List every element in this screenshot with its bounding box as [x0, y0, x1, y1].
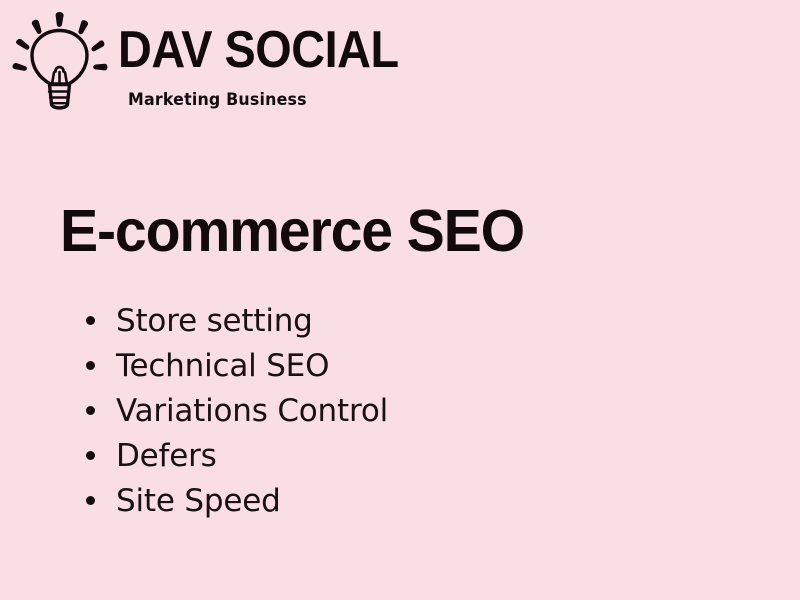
list-item-label: Variations Control: [116, 394, 388, 428]
list-item-label: Store setting: [116, 304, 313, 338]
list-item: Site Speed: [82, 478, 702, 523]
list-item: Defers: [82, 433, 702, 478]
lightbulb-icon: [12, 10, 120, 114]
list-item: Variations Control: [82, 388, 702, 433]
presentation-slide: DAV SOCIAL Marketing Business E-commerce…: [0, 0, 800, 600]
feature-list: Store setting Technical SEO Variations C…: [82, 298, 702, 523]
list-item: Store setting: [82, 298, 702, 343]
brand-wordmark: DAV SOCIAL Marketing Business: [118, 8, 344, 114]
list-item-label: Defers: [116, 439, 217, 473]
list-item: Technical SEO: [82, 343, 702, 388]
list-item-label: Site Speed: [116, 484, 281, 518]
brand-name: DAV SOCIAL: [118, 24, 399, 76]
brand-tagline: Marketing Business: [128, 90, 307, 110]
bullet-dot-icon: [86, 316, 95, 325]
page-title: E-commerce SEO: [60, 200, 524, 262]
brand-logo: DAV SOCIAL Marketing Business: [12, 8, 342, 114]
bullet-dot-icon: [86, 451, 95, 460]
bullet-dot-icon: [86, 361, 95, 370]
list-item-label: Technical SEO: [116, 349, 329, 383]
bullet-dot-icon: [86, 406, 95, 415]
bullet-dot-icon: [86, 496, 95, 505]
